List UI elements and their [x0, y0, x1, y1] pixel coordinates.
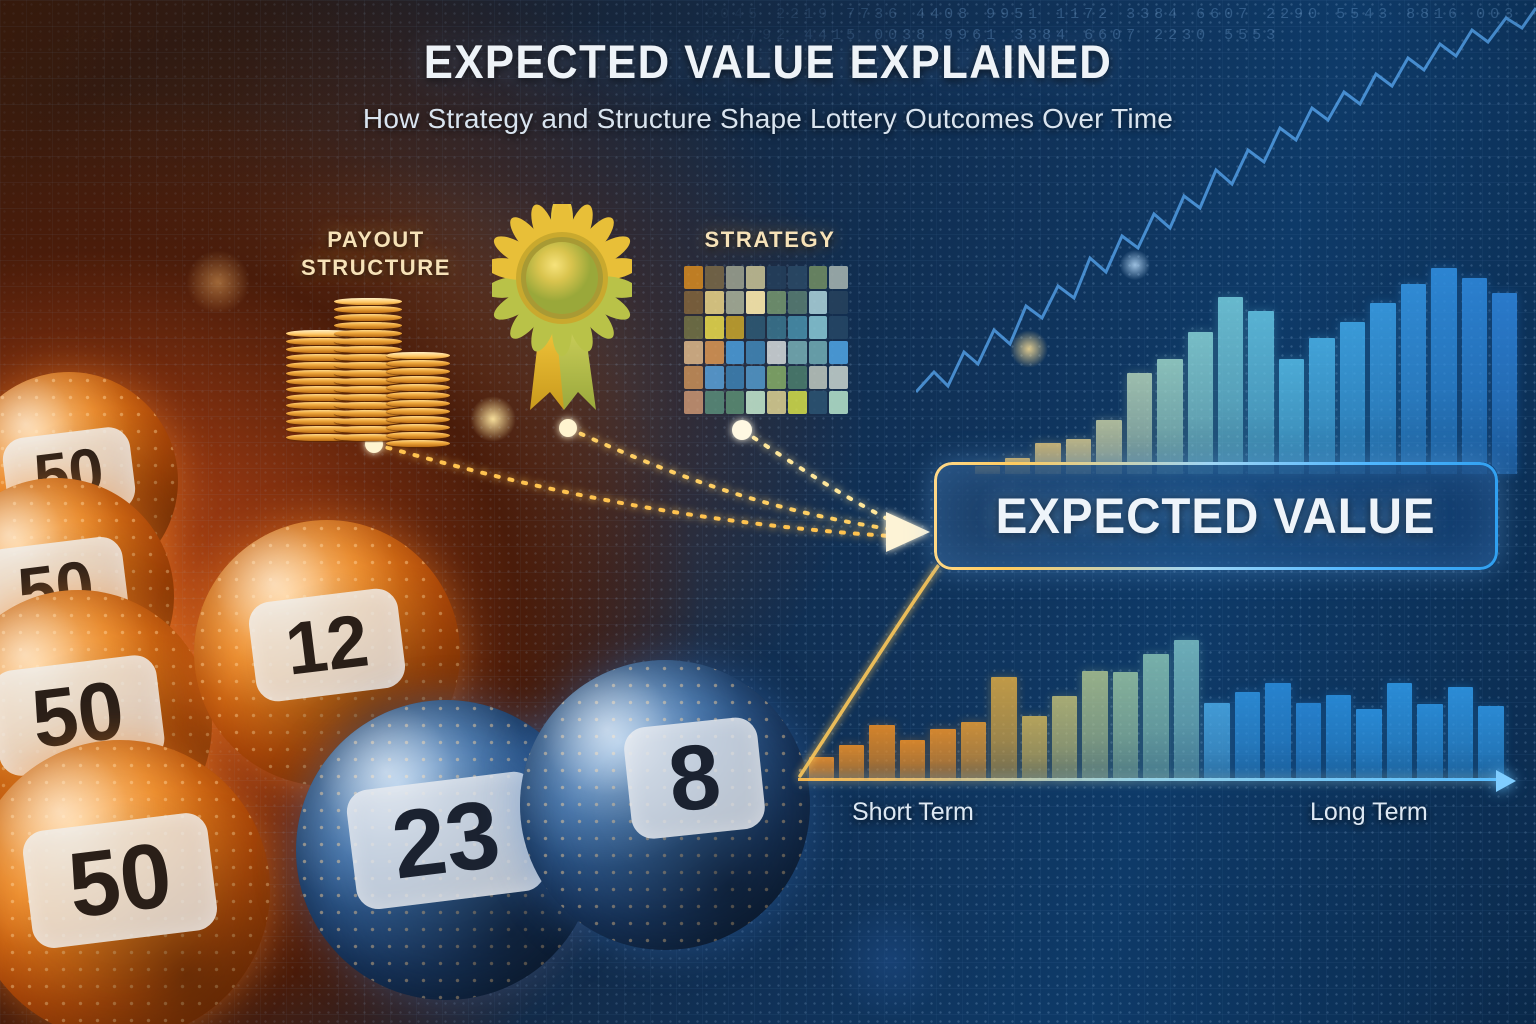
ball-number: 23 — [344, 769, 547, 911]
strategy-grid-cell — [726, 316, 745, 339]
strategy-grid-cell — [829, 316, 848, 339]
strategy-grid-cell — [726, 341, 745, 364]
long-term-growth-chart — [972, 268, 1520, 474]
bar — [1370, 303, 1395, 474]
ball-number: 12 — [246, 586, 407, 704]
strategy-grid-cell — [767, 341, 786, 364]
bar — [1431, 268, 1456, 474]
strategy-grid-cell — [726, 266, 745, 289]
strategy-grid-cell — [746, 291, 765, 314]
strategy-grid-cell — [705, 366, 724, 389]
strategy-grid-cell — [726, 291, 745, 314]
bar — [1387, 683, 1412, 780]
bar — [1448, 687, 1473, 780]
bar — [1326, 695, 1351, 780]
strategy-grid-cell — [767, 291, 786, 314]
strategy-grid-cell — [788, 266, 807, 289]
coin — [334, 322, 402, 329]
coin — [386, 416, 450, 423]
short-to-long-term-chart — [806, 640, 1506, 780]
bar — [1235, 692, 1260, 781]
coin — [334, 330, 402, 337]
strategy-grid-cell — [809, 391, 828, 414]
strategy-grid-cell — [726, 366, 745, 389]
strategy-grid-cell — [829, 341, 848, 364]
coin — [386, 360, 450, 367]
coin — [386, 400, 450, 407]
strategy-grid-cell — [788, 341, 807, 364]
bar — [1204, 703, 1229, 780]
bar — [1296, 703, 1321, 780]
strategy-grid-cell — [746, 316, 765, 339]
page-title: EXPECTED VALUE EXPLAINED — [54, 34, 1482, 89]
strategy-grid-cell — [809, 316, 828, 339]
coin — [386, 392, 450, 399]
bar — [1113, 672, 1138, 780]
strategy-grid-cell — [829, 291, 848, 314]
expected-value-box[interactable]: EXPECTED VALUE — [934, 462, 1498, 570]
bar-series — [972, 268, 1520, 474]
bar — [1188, 332, 1213, 474]
bar — [1022, 716, 1047, 780]
strategy-grid-cell — [705, 341, 724, 364]
bar — [900, 740, 925, 780]
axis-label-short-term: Short Term — [852, 798, 974, 827]
header: EXPECTED VALUE EXPLAINED How Strategy an… — [0, 34, 1536, 135]
strategy-grid-cell — [684, 316, 703, 339]
bar-series — [806, 640, 1506, 780]
bar — [869, 725, 894, 780]
bar — [1309, 338, 1334, 474]
coin — [334, 338, 402, 345]
strategy-grid-cell — [767, 266, 786, 289]
strategy-grid-cell — [788, 316, 807, 339]
strategy-grid-cell — [767, 391, 786, 414]
strategy-label-text: STRATEGY — [670, 226, 870, 254]
coin — [386, 368, 450, 375]
strategy-grid-cell — [705, 266, 724, 289]
bar — [809, 757, 834, 780]
payout-structure-label-line2: STRUCTURE — [276, 254, 476, 282]
bar — [961, 722, 986, 780]
coin — [386, 432, 450, 439]
timeline-axis — [798, 778, 1498, 781]
strategy-grid-cell — [788, 366, 807, 389]
coin — [386, 440, 450, 447]
bar — [1279, 359, 1304, 474]
bar — [1340, 322, 1365, 474]
bar — [1218, 297, 1243, 474]
strategy-grid-cell — [746, 266, 765, 289]
strategy-grid-cell — [788, 391, 807, 414]
coin — [386, 384, 450, 391]
strategy-grid-cell — [746, 391, 765, 414]
coin-stacks-icon — [282, 298, 452, 448]
timeline-arrow-icon — [1496, 770, 1516, 792]
bar — [1174, 640, 1199, 780]
bar — [1248, 311, 1273, 474]
coin — [334, 306, 402, 313]
bar — [839, 745, 864, 780]
strategy-grid-cell — [705, 316, 724, 339]
bar — [1082, 671, 1107, 780]
strategy-label: STRATEGY — [670, 226, 870, 254]
strategy-grid-cell — [767, 366, 786, 389]
strategy-grid-cell — [767, 316, 786, 339]
lottery-ball: 8 — [520, 660, 810, 950]
coin — [334, 314, 402, 321]
axis-label-long-term: Long Term — [1310, 798, 1428, 827]
payout-structure-label: PAYOUT STRUCTURE — [276, 226, 476, 282]
bar — [1127, 373, 1152, 474]
bar — [991, 677, 1016, 780]
strategy-grid-cell — [746, 366, 765, 389]
bar — [1143, 654, 1168, 780]
coin — [386, 424, 450, 431]
strategy-grid-cell — [788, 291, 807, 314]
strategy-grid-cell — [684, 266, 703, 289]
strategy-grid-cell — [684, 291, 703, 314]
award-rosette-icon — [492, 204, 632, 416]
strategy-grid-cell — [809, 341, 828, 364]
bar — [1417, 704, 1442, 780]
strategy-grid-cell — [809, 266, 828, 289]
bar — [1356, 709, 1381, 780]
strategy-grid-cell — [829, 366, 848, 389]
infographic-canvas: 17293 4812 9903 23 17 0993 2831 4471 102… — [0, 0, 1536, 1024]
ball-number: 8 — [622, 715, 767, 840]
payout-structure-label-line1: PAYOUT — [276, 226, 476, 254]
strategy-grid-cell — [809, 291, 828, 314]
coin — [386, 376, 450, 383]
strategy-grid-cell — [705, 391, 724, 414]
bar — [1462, 278, 1487, 474]
strategy-grid-icon — [684, 266, 848, 414]
expected-value-label: EXPECTED VALUE — [996, 487, 1436, 545]
page-subtitle: How Strategy and Structure Shape Lottery… — [0, 103, 1536, 135]
strategy-grid-cell — [684, 366, 703, 389]
bar — [1478, 706, 1503, 780]
strategy-grid-cell — [684, 391, 703, 414]
coin — [334, 298, 402, 305]
bar — [1401, 284, 1426, 474]
strategy-grid-cell — [829, 391, 848, 414]
ball-number: 50 — [21, 811, 220, 951]
bar — [1052, 696, 1077, 780]
strategy-grid-cell — [809, 366, 828, 389]
strategy-grid-cell — [705, 291, 724, 314]
bar — [1492, 293, 1517, 474]
coin — [386, 408, 450, 415]
bar — [1157, 359, 1182, 474]
strategy-grid-cell — [726, 391, 745, 414]
strategy-grid-cell — [684, 341, 703, 364]
coin-stack — [386, 352, 450, 448]
strategy-grid-cell — [829, 266, 848, 289]
strategy-grid-cell — [746, 341, 765, 364]
bar — [1265, 683, 1290, 780]
bar — [930, 729, 955, 780]
coin — [386, 352, 450, 359]
